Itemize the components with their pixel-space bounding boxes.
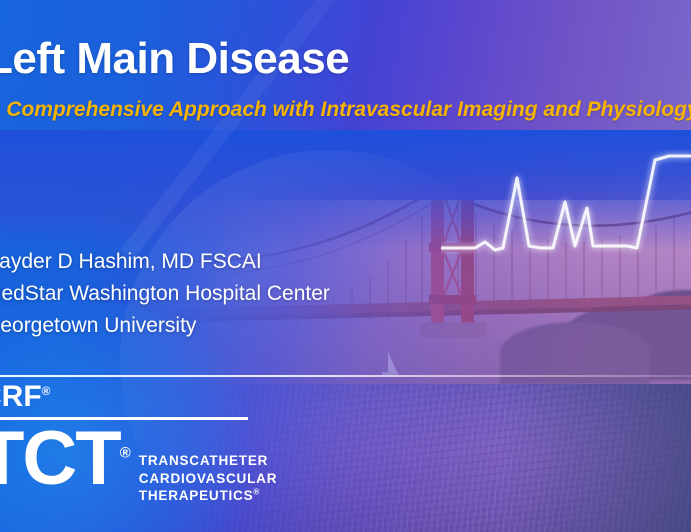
presenter-name: Hayder D Hashim, MD FSCAI xyxy=(0,246,684,278)
tct-name-line-3-text: THERAPEUTICS xyxy=(139,488,254,503)
tct-name-line-3: THERAPEUTICS® xyxy=(139,487,277,505)
crf-tct-logo: CRF® TCT® TRANSCATHETER CARDIOVASCULAR T… xyxy=(0,382,277,505)
footer-divider xyxy=(0,375,691,377)
presenter-affiliation: Georgetown University xyxy=(0,310,684,342)
slide-title: Left Main Disease xyxy=(0,36,691,82)
crf-text: CRF xyxy=(0,380,42,413)
tct-name-line-2: CARDIOVASCULAR xyxy=(139,470,277,488)
tct-registered-mark: ® xyxy=(120,445,129,462)
crf-registered-mark: ® xyxy=(42,384,51,398)
tct-name-line-1: TRANSCATHETER xyxy=(139,452,277,470)
presentation-slide: Left Main Disease A Comprehensive Approa… xyxy=(0,0,691,532)
tct-name-registered-mark: ® xyxy=(253,488,260,497)
crf-wordmark: CRF® xyxy=(0,382,277,412)
slide-subtitle: A Comprehensive Approach with Intravascu… xyxy=(0,96,691,123)
tct-wordmark: TCT® xyxy=(0,424,129,494)
tct-full-name: TRANSCATHETER CARDIOVASCULAR THERAPEUTIC… xyxy=(139,452,277,505)
presenter-institution: MedStar Washington Hospital Center xyxy=(0,278,684,310)
tct-text: TCT xyxy=(0,416,120,501)
presenter-block: Hayder D Hashim, MD FSCAI MedStar Washin… xyxy=(0,246,684,342)
tct-logo-row: TCT® TRANSCATHETER CARDIOVASCULAR THERAP… xyxy=(0,424,277,505)
